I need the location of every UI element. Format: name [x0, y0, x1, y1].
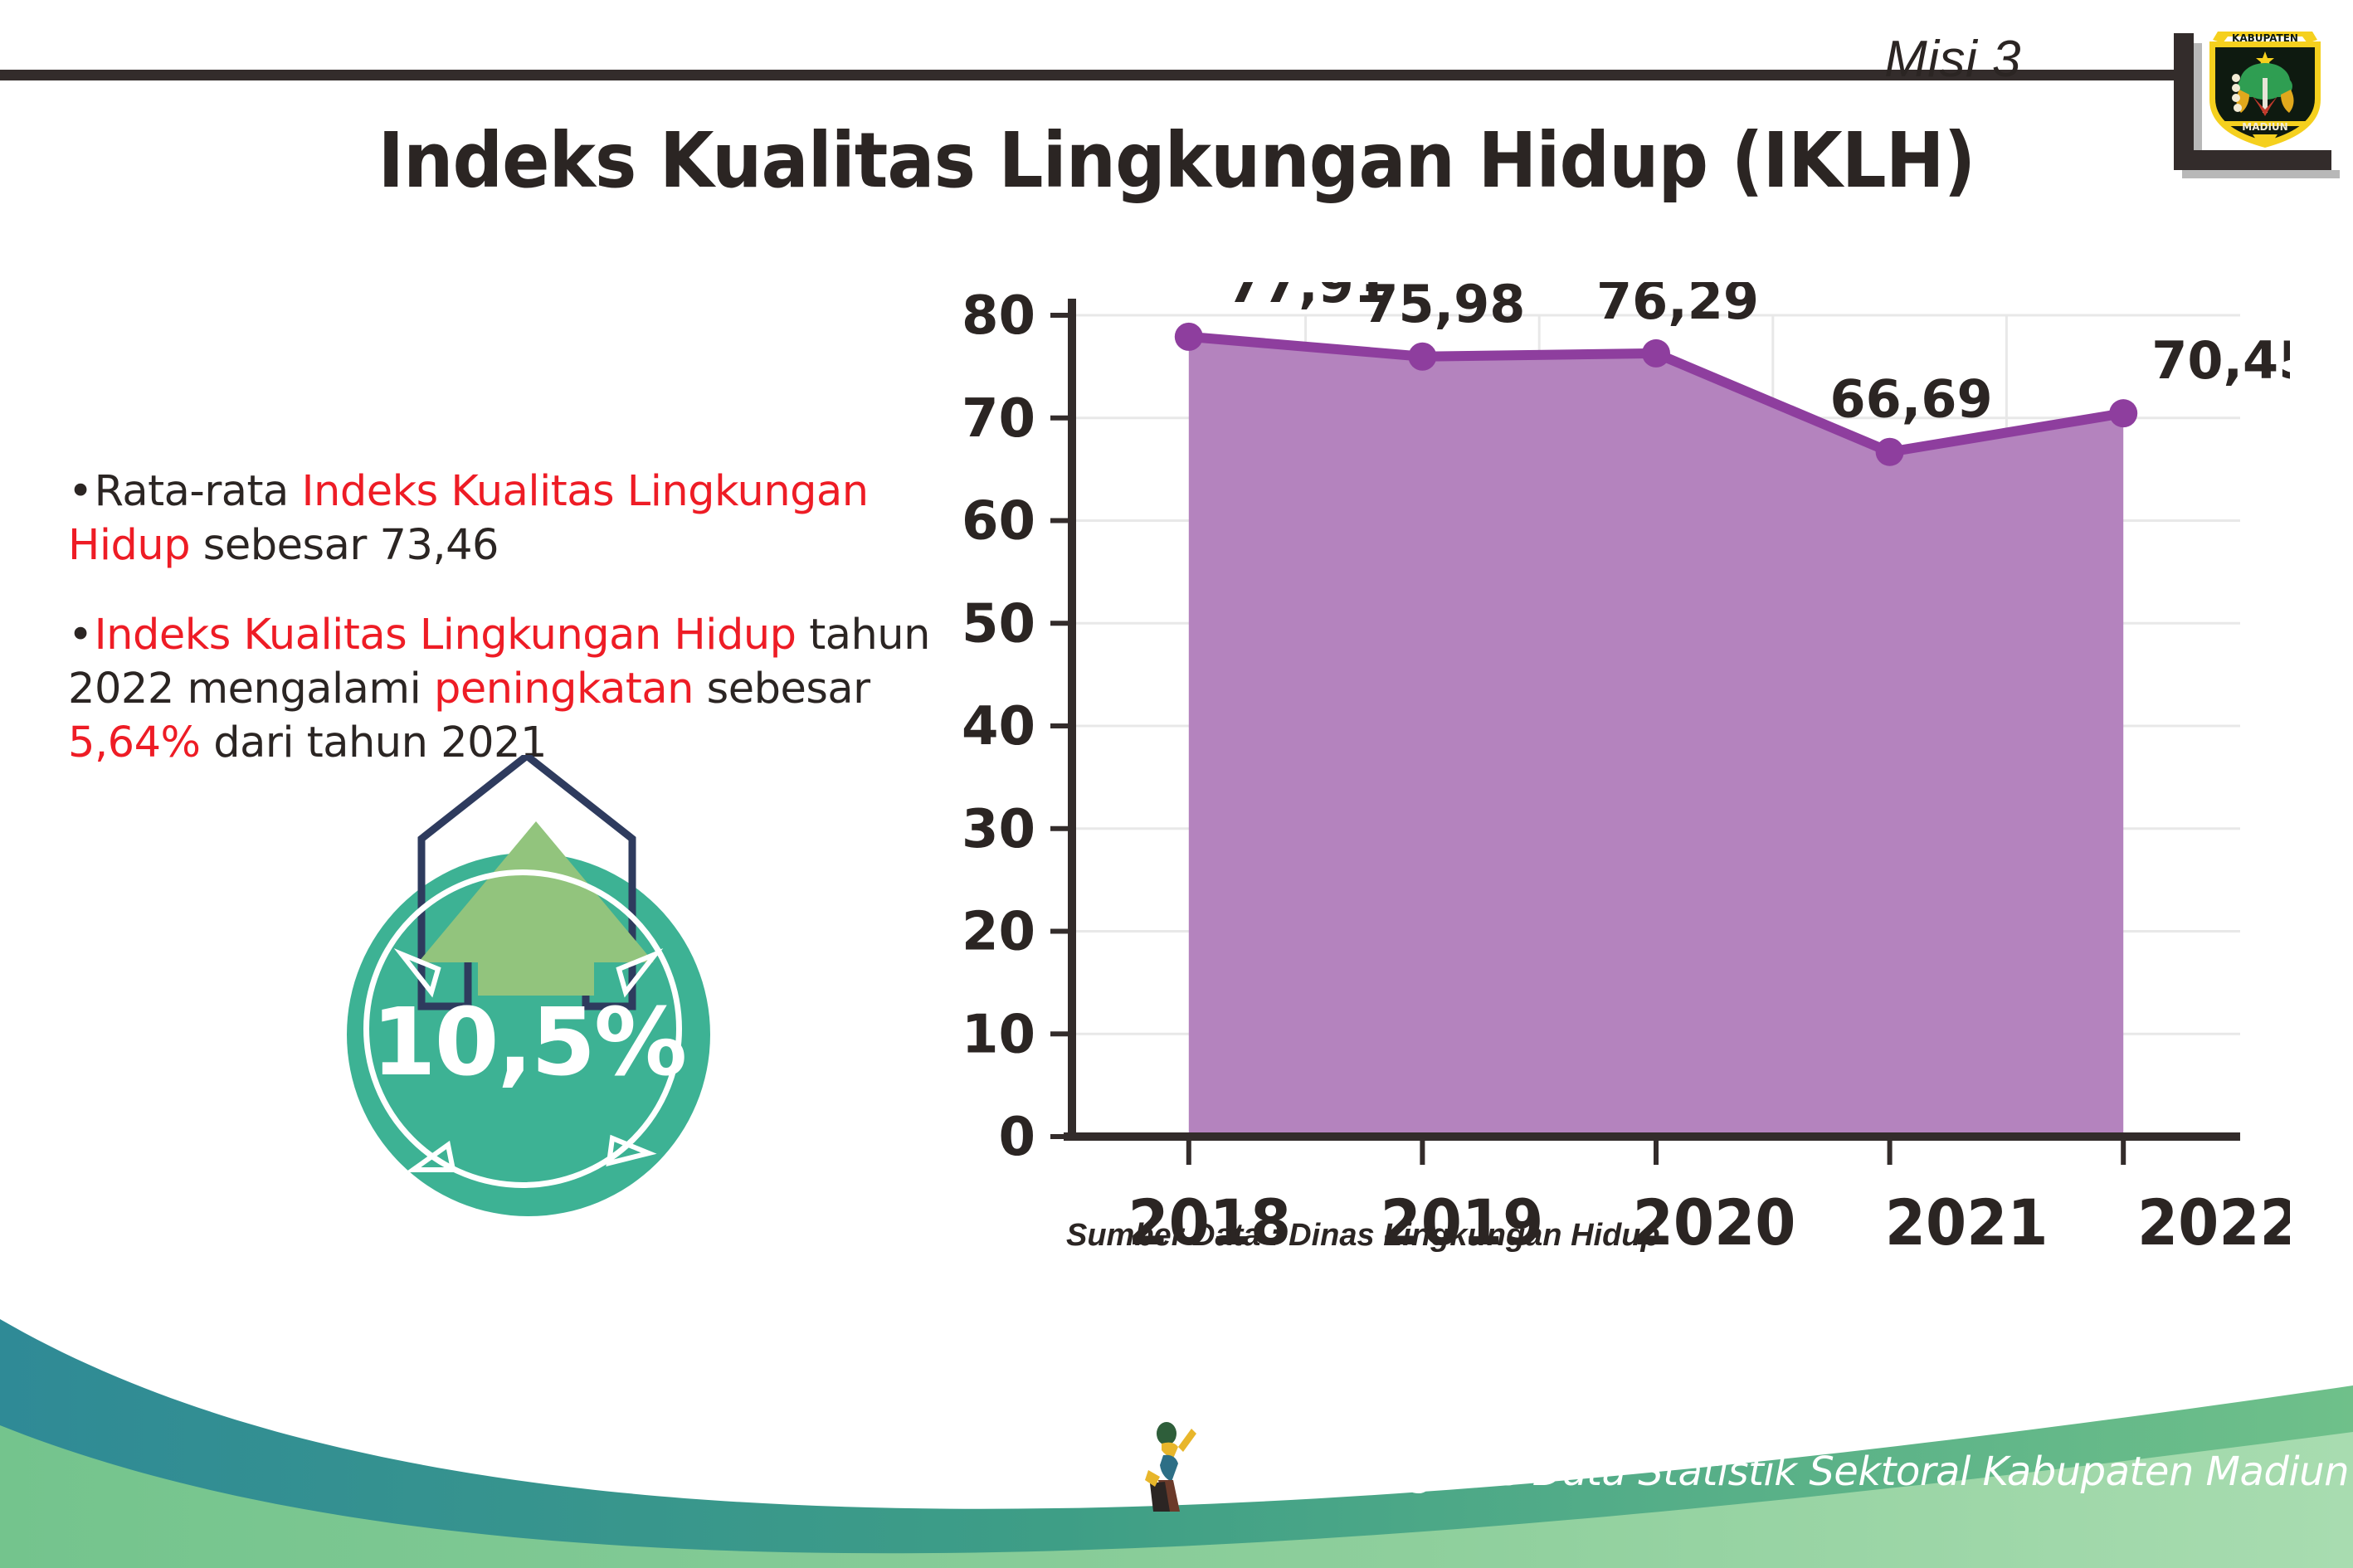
increase-badge: 10,5% — [330, 755, 762, 1220]
bullet-part: sebesar — [694, 665, 870, 713]
chart-data-point — [1876, 438, 1904, 466]
chart-point-label: 75,98 — [1362, 282, 1525, 334]
chart-point-label: 76,29 — [1596, 282, 1759, 331]
bullet-part-highlight: 5,64% — [68, 718, 201, 767]
bullet-item: •Rata-rata Indeks Kualitas Lingkungan Hi… — [68, 465, 989, 573]
chart-y-tick-label: 20 — [962, 902, 1035, 963]
statistik-figure-logo-icon — [1145, 1419, 1211, 1518]
bullet-marker: • — [68, 467, 93, 516]
chart-y-tick-label: 40 — [962, 696, 1035, 757]
chart-x-tick-label: 2021 — [1885, 1187, 2049, 1260]
chart-data-point — [2109, 399, 2137, 427]
bullet-item: •Indeks Kualitas Lingkungan Hidup tahun … — [68, 608, 989, 771]
chart-point-label: 70,45 — [2151, 330, 2290, 391]
badge-percent-value: 10,5% — [352, 989, 705, 1097]
bullet-part-highlight: Indeks Kualitas Lingkungan Hidup — [95, 611, 797, 660]
footer-caption: Media Infografis Data Statistik Sektoral… — [1207, 1449, 2353, 1495]
chart-y-tick-label: 0 — [998, 1107, 1035, 1168]
chart-y-tick-label: 30 — [962, 799, 1035, 860]
header-rule — [0, 70, 2178, 80]
chart-data-point — [1175, 323, 1203, 351]
chart-data-point — [1408, 343, 1436, 371]
bullet-marker: • — [68, 611, 93, 660]
chart-y-tick-label: 10 — [962, 1004, 1035, 1065]
iklh-area-chart: 77,9175,9876,2966,6970,45010203040506070… — [929, 282, 2290, 1278]
bullet-part: Rata-rata — [95, 467, 302, 516]
chart-y-tick-label: 70 — [962, 388, 1035, 450]
chart-area-fill — [1189, 337, 2123, 1137]
svg-text:KABUPATEN: KABUPATEN — [2232, 32, 2298, 44]
badge-tick-marks-icon — [330, 755, 762, 1220]
chart-y-tick-label: 60 — [962, 491, 1035, 553]
bullet-part-highlight: peningkatan — [434, 665, 694, 713]
bullet-part: sebesar 73,46 — [190, 521, 499, 570]
chart-x-tick-label: 2022 — [2137, 1187, 2290, 1260]
page-title: Indeks Kualitas Lingkungan Hidup (IKLH) — [94, 116, 2258, 205]
chart-y-tick-label: 80 — [962, 285, 1035, 347]
mission-label: Misi 3 — [1884, 30, 2021, 89]
chart-y-tick-label: 50 — [962, 593, 1035, 655]
chart-canvas: 77,9175,9876,2966,6970,45010203040506070… — [929, 282, 2290, 1278]
chart-data-point — [1642, 339, 1670, 368]
chart-point-label: 66,69 — [1830, 369, 1993, 430]
summary-bullets: •Rata-rata Indeks Kualitas Lingkungan Hi… — [68, 465, 989, 805]
chart-source-note: Sumber Data : Dinas Lingkungan Hidup — [1066, 1218, 1660, 1254]
